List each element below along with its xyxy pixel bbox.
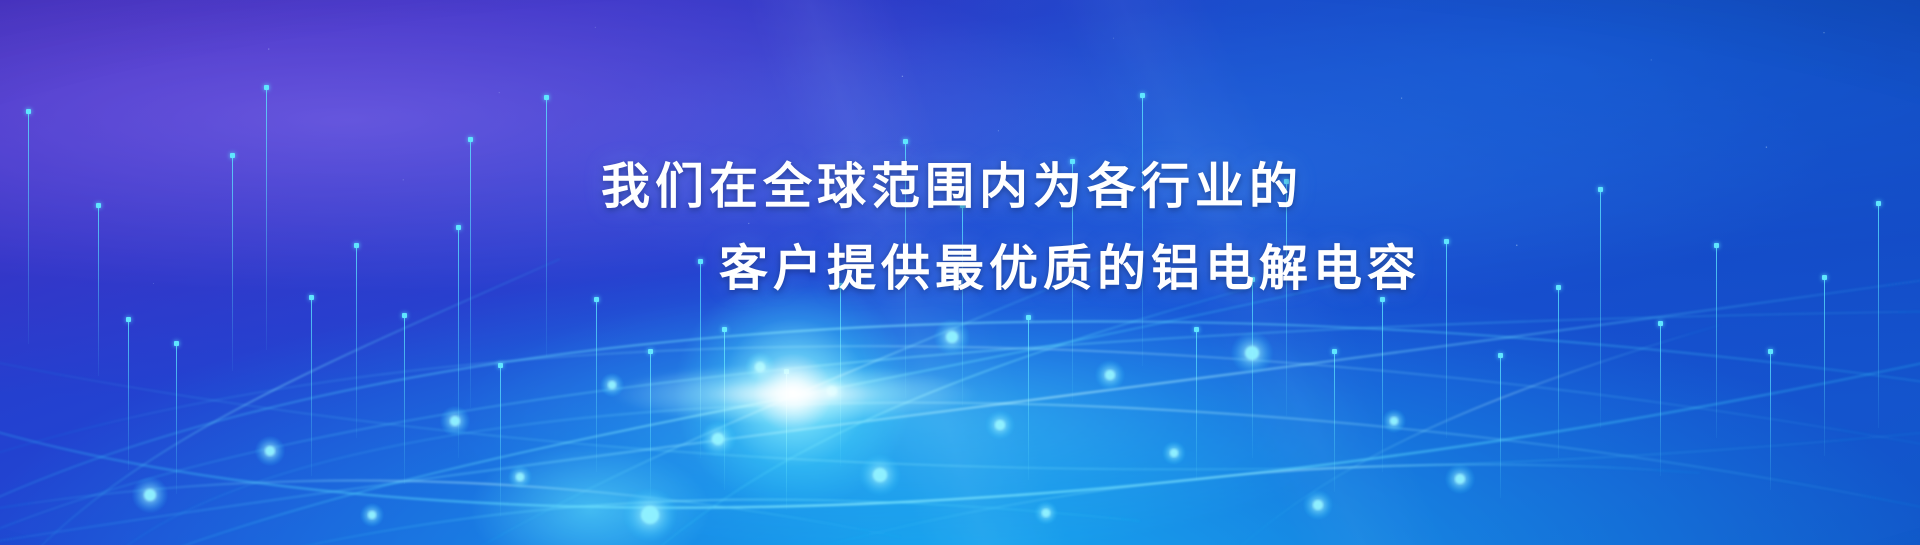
network-node <box>1390 417 1398 425</box>
headline-block: 我们在全球范围内为各行业的 客户提供最优质的铝电解电容 <box>0 146 1920 310</box>
network-node <box>1313 500 1323 510</box>
network-node <box>1245 346 1259 360</box>
lens-flare-streak <box>560 355 1030 433</box>
headline-line-1: 我们在全球范围内为各行业的 <box>0 146 1912 228</box>
network-node <box>1042 509 1050 517</box>
network-node <box>1455 474 1465 484</box>
network-node <box>1170 449 1178 457</box>
network-node <box>144 489 156 501</box>
hero-banner: 我们在全球范围内为各行业的 客户提供最优质的铝电解电容 <box>0 0 1920 545</box>
network-node <box>516 473 524 481</box>
network-node <box>1105 370 1115 380</box>
network-node <box>265 446 275 456</box>
headline-line-2: 客户提供最优质的铝电解电容 <box>110 228 1920 310</box>
network-node <box>368 511 376 519</box>
network-node <box>450 416 460 426</box>
